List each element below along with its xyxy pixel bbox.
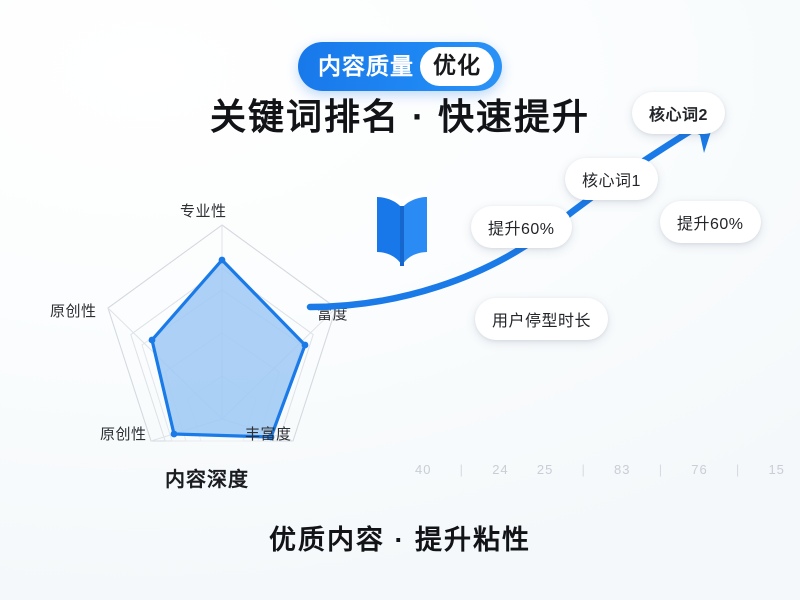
radar-axis-label-bottom-right: 丰富度	[245, 423, 292, 444]
scale-item: |	[736, 462, 740, 477]
page-title: 关键词排名 · 快速提升	[210, 88, 590, 140]
scale-item: |	[581, 462, 585, 477]
tag-keyword-1[interactable]: 核心词1	[565, 158, 658, 200]
scale-item: 15	[768, 462, 784, 477]
poster-canvas: 内容质量 优化 关键词排名 · 快速提升	[0, 0, 800, 600]
radar-axis-label-left: 原创性	[50, 300, 97, 321]
radar-chart	[22, 215, 382, 445]
scale-item: |	[659, 462, 663, 477]
radar-series	[149, 257, 309, 441]
content-quality-badge[interactable]: 内容质量 优化	[298, 42, 502, 91]
scale-item: 24	[492, 462, 508, 477]
tag-dwell-time[interactable]: 用户停型时长	[475, 298, 608, 340]
tag-keyword-2[interactable]: 核心词2	[632, 92, 725, 134]
scale-item: |	[460, 462, 464, 477]
tag-uplift-right[interactable]: 提升60%	[660, 201, 761, 243]
radar-axis-label-right: 富度	[317, 303, 348, 324]
scale-item: 40	[415, 462, 431, 477]
scale-item: 25	[537, 462, 553, 477]
open-book-icon	[374, 186, 430, 272]
badge-main-label: 内容质量	[318, 55, 414, 78]
bottom-scale: 40 | 24 25 | 83 | 76 | 15	[415, 462, 785, 477]
content-depth-caption: 内容深度	[165, 463, 249, 492]
scale-item: 76	[691, 462, 707, 477]
radar-axis-label-bottom-left: 原创性	[100, 423, 147, 444]
badge-chip-label: 优化	[420, 47, 494, 86]
tag-uplift-left[interactable]: 提升60%	[471, 206, 572, 248]
footer-tagline: 优质内容 · 提升粘性	[269, 518, 531, 557]
radar-axis-label-top: 专业性	[180, 200, 227, 221]
scale-item: 83	[614, 462, 630, 477]
